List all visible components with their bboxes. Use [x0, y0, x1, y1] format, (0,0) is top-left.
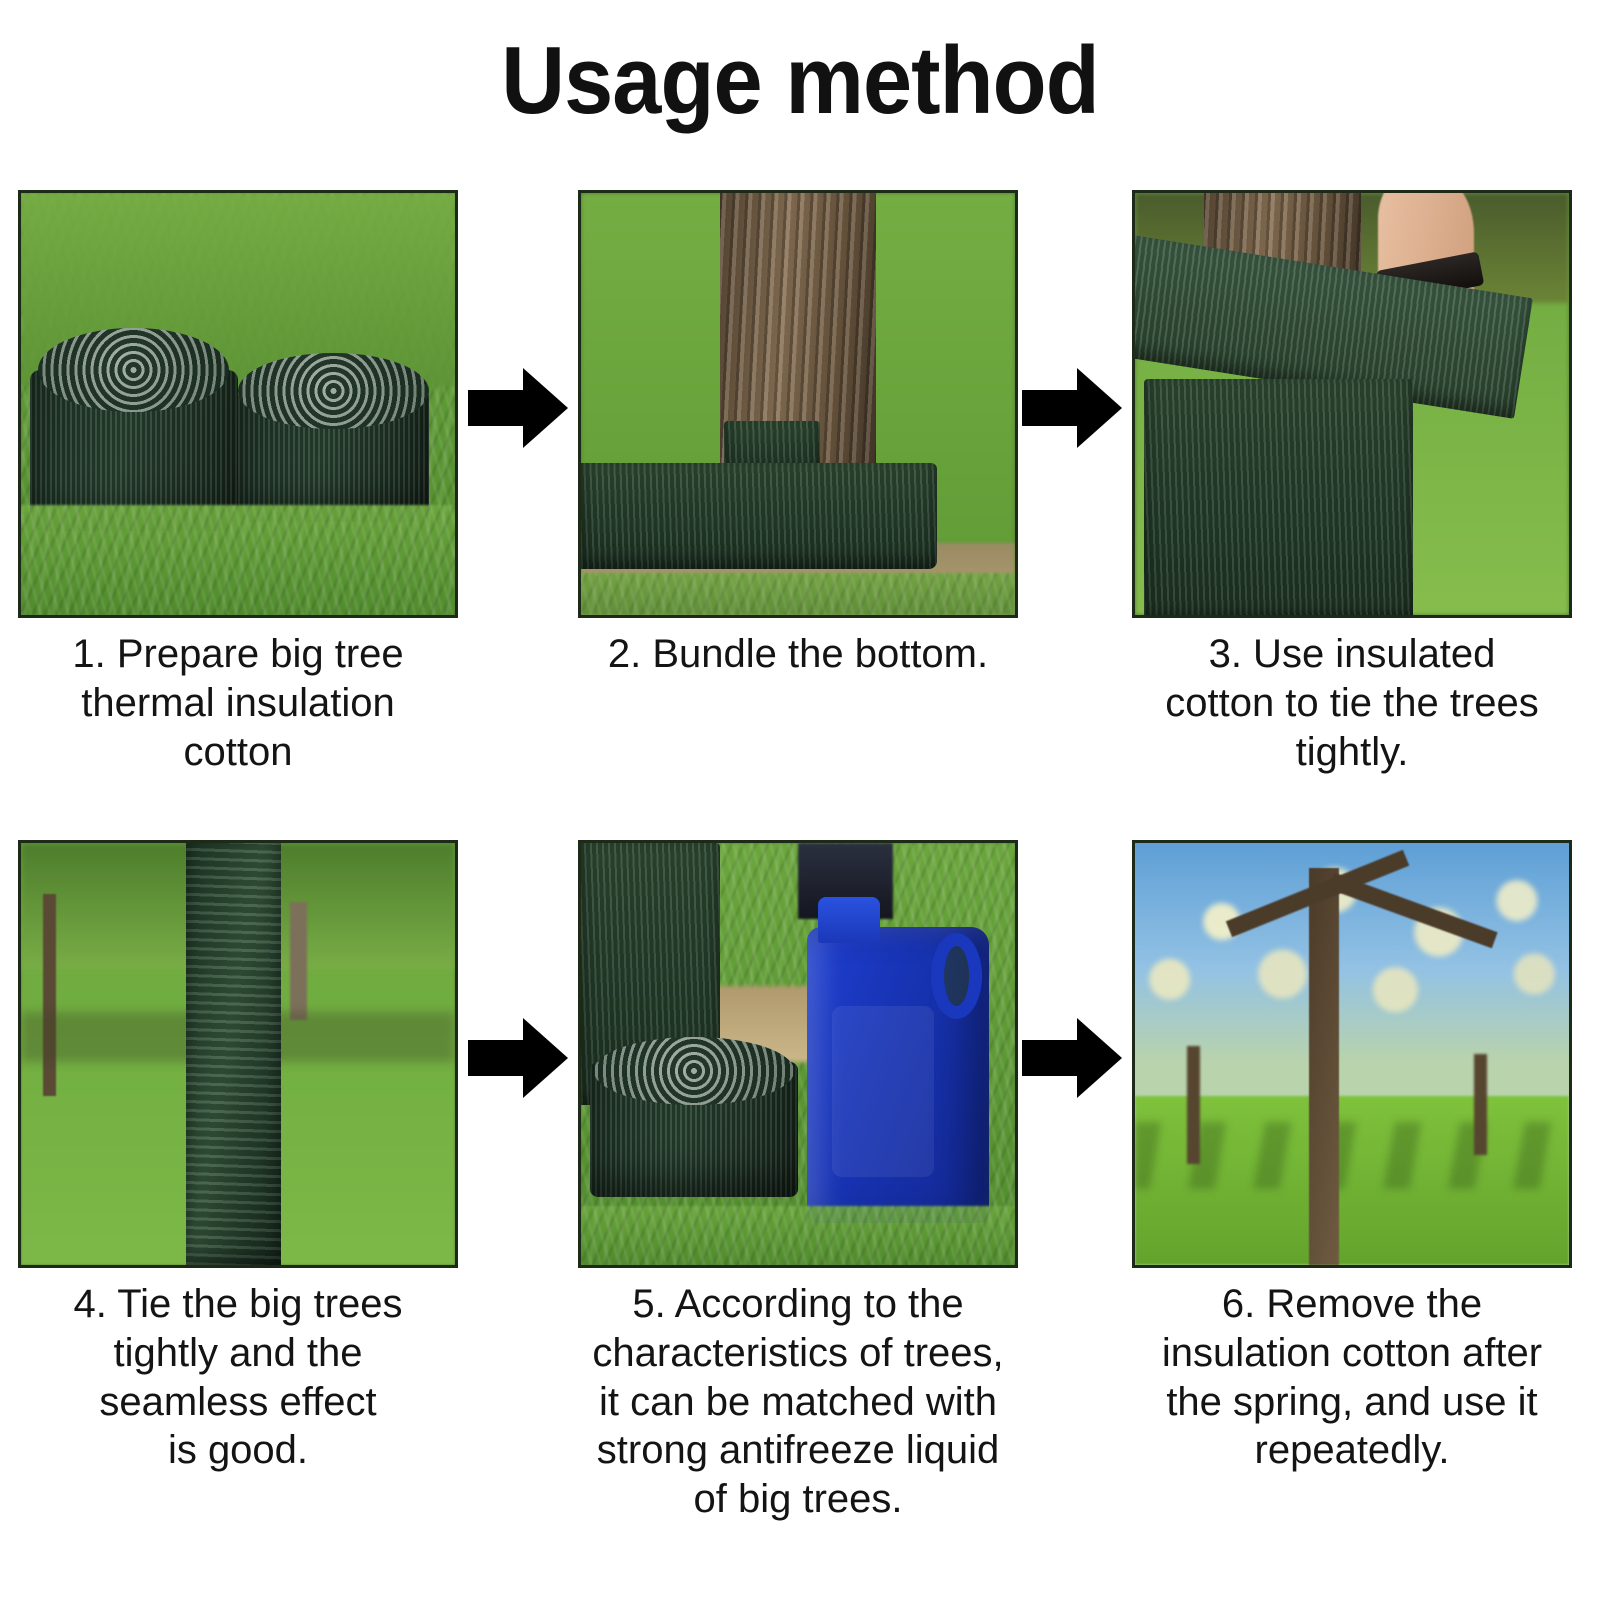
scene-hand-wrapping-band: [1135, 193, 1569, 615]
step-caption-4: 4. Tie the big trees tightly and the sea…: [12, 1280, 464, 1475]
step-photo-3: [1132, 190, 1572, 618]
step-card-5: 5. According to the characteristics of t…: [578, 840, 1018, 1524]
fabric-roll-large-top: [38, 328, 229, 412]
grass-foreground: [21, 505, 455, 615]
step-card-3: 3. Use insulated cotton to tie the trees…: [1132, 190, 1572, 776]
grass-shadows: [1135, 1122, 1569, 1190]
background-tree-trunk-right: [290, 902, 307, 1020]
background-tree-trunk-left: [43, 894, 56, 1097]
arrow-right-icon: [1022, 362, 1122, 454]
page-title: Usage method: [64, 26, 1536, 136]
step-caption-5: 5. According to the characteristics of t…: [572, 1280, 1024, 1524]
step-photo-1: [18, 190, 458, 618]
background-trunk-1: [1187, 1046, 1200, 1164]
arrow-right-icon: [468, 362, 568, 454]
scene-trunk-bottom-wrap: [581, 193, 1015, 615]
wrapped-trunk-column: [1144, 379, 1413, 615]
step-caption-2: 2. Bundle the bottom.: [572, 630, 1024, 679]
grass-foreground: [581, 1206, 1015, 1265]
grass-foreground: [581, 573, 1015, 615]
wrapped-tree-trunk: [186, 843, 281, 1265]
step-photo-5: [578, 840, 1018, 1268]
step-photo-6: [1132, 840, 1572, 1268]
step-card-2: 2. Bundle the bottom.: [578, 190, 1018, 679]
scene-blossom-orchard: [1135, 843, 1569, 1265]
step-caption-1: 1. Prepare big tree thermal insulation c…: [12, 630, 464, 776]
step-caption-6: 6. Remove the insulation cotton after th…: [1126, 1280, 1578, 1475]
arrow-right-icon: [468, 1012, 568, 1104]
background-trunk-2: [1474, 1054, 1487, 1155]
jug-label-panel: [832, 1006, 934, 1177]
wrap-bottom-band: [581, 463, 937, 569]
antifreeze-jug: [807, 894, 989, 1223]
jug-handle: [931, 933, 982, 1019]
scene-rolls-on-grass: [21, 193, 455, 615]
step-card-1: 1. Prepare big tree thermal insulation c…: [18, 190, 458, 776]
step-card-6: 6. Remove the insulation cotton after th…: [1132, 840, 1572, 1475]
scene-roll-and-blue-jug: [581, 843, 1015, 1265]
fabric-roll-top: [594, 1037, 794, 1105]
step-photo-2: [578, 190, 1018, 618]
infographic-page: Usage method 1. Prepare big tree thermal…: [0, 0, 1600, 1600]
jug-cap: [818, 897, 880, 943]
step-card-4: 4. Tie the big trees tightly and the sea…: [18, 840, 458, 1475]
step-caption-3: 3. Use insulated cotton to tie the trees…: [1126, 630, 1578, 776]
step-photo-4: [18, 840, 458, 1268]
scene-wrapped-trunk-orchard: [21, 843, 455, 1265]
main-tree-trunk: [1309, 868, 1339, 1265]
fabric-roll-small-top: [238, 353, 429, 429]
arrow-right-icon: [1022, 1012, 1122, 1104]
